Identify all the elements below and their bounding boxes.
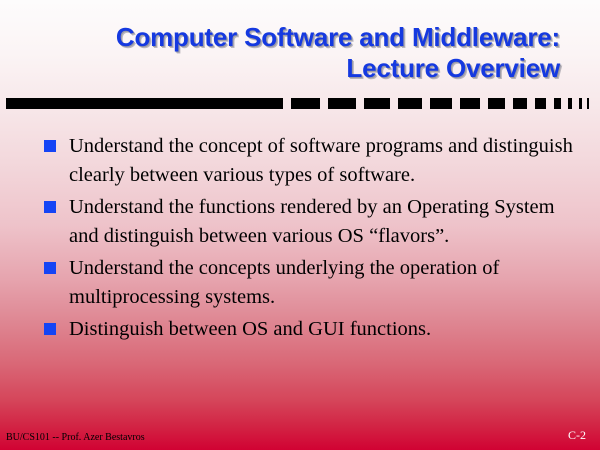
divider-segment-8	[513, 98, 527, 109]
divider-segment-0	[6, 98, 283, 109]
square-bullet-icon	[44, 201, 56, 213]
divider-segment-4	[398, 98, 422, 109]
slide-title-line-1: Computer Software and Middleware:	[36, 22, 560, 53]
divider-segment-11	[568, 98, 572, 109]
footer-course-credit: BU/CS101 -- Prof. Azer Bestavros	[6, 432, 145, 444]
divider-segment-10	[554, 98, 561, 109]
divider-segment-1	[291, 98, 320, 109]
slide-title-line-2: Lecture Overview	[36, 53, 560, 84]
bullet-list: Understand the concept of software progr…	[44, 132, 574, 348]
divider-segment-6	[460, 98, 480, 109]
list-item-text: Distinguish between OS and GUI functions…	[69, 315, 574, 344]
list-item: Understand the concept of software progr…	[44, 132, 574, 189]
divider-segment-7	[488, 98, 505, 109]
divider-segment-9	[535, 98, 546, 109]
slide-title: Computer Software and Middleware: Lectur…	[36, 22, 560, 84]
divider-segment-13	[587, 98, 589, 109]
square-bullet-icon	[44, 262, 56, 274]
square-bullet-icon	[44, 140, 56, 152]
list-item: Understand the functions rendered by an …	[44, 193, 574, 250]
divider-segment-2	[328, 98, 356, 109]
divider-segment-3	[364, 98, 390, 109]
list-item-text: Understand the concept of software progr…	[69, 132, 574, 189]
list-item-text: Understand the concepts underlying the o…	[69, 254, 574, 311]
divider-segment-12	[579, 98, 582, 109]
list-item-text: Understand the functions rendered by an …	[69, 193, 574, 250]
square-bullet-icon	[44, 323, 56, 335]
footer-slide-number: C-2	[568, 429, 586, 442]
title-divider-rule	[6, 98, 594, 109]
list-item: Understand the concepts underlying the o…	[44, 254, 574, 311]
presentation-slide: Computer Software and Middleware: Lectur…	[0, 0, 600, 450]
divider-segment-5	[430, 98, 452, 109]
list-item: Distinguish between OS and GUI functions…	[44, 315, 574, 344]
